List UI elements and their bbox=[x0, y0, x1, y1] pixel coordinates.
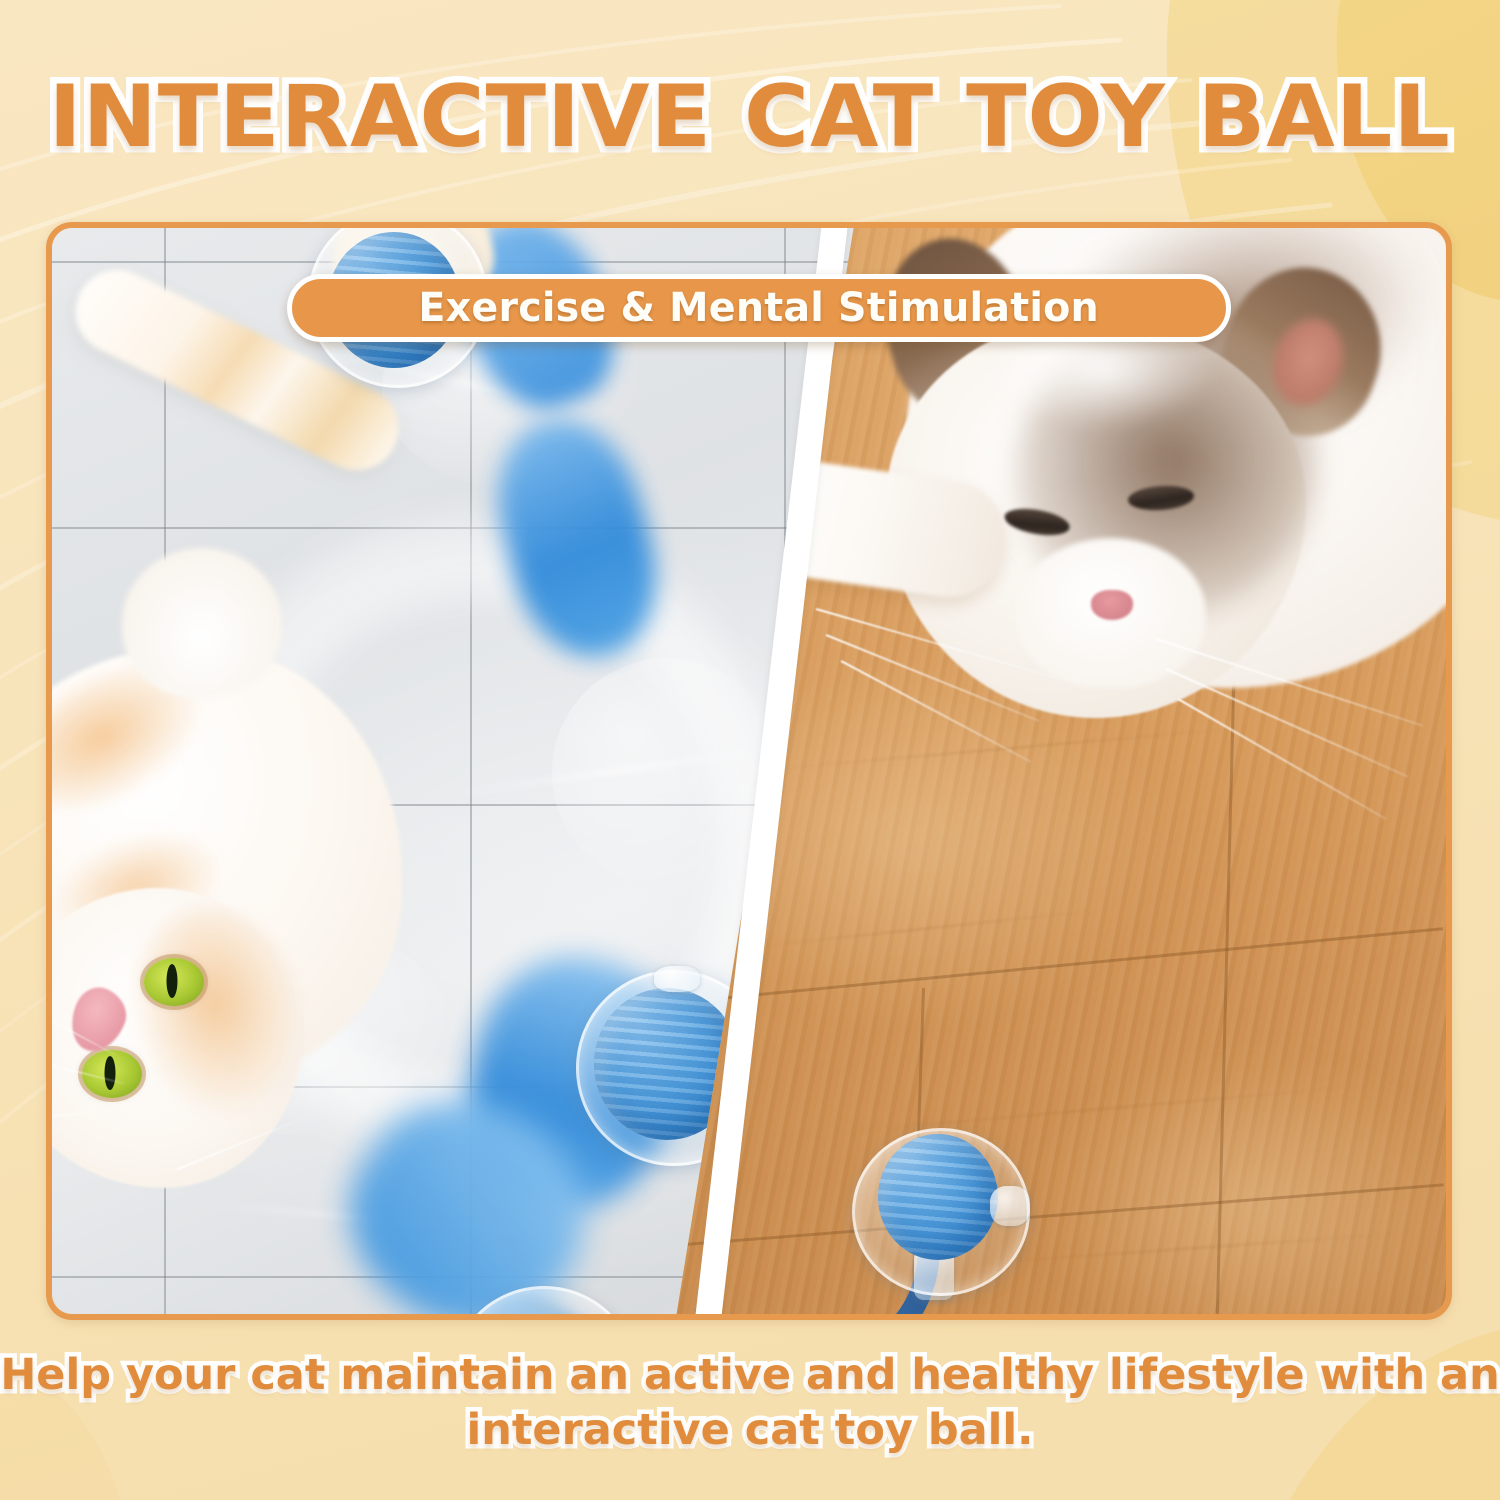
cat-whisker bbox=[1177, 698, 1386, 820]
caption-block: Help your cat maintain an active and hea… bbox=[0, 1348, 1500, 1458]
toy-ball-nub bbox=[990, 1186, 1030, 1226]
wood-sheen bbox=[1032, 1048, 1452, 1320]
cat-ear bbox=[122, 548, 282, 698]
cat-nose bbox=[1091, 590, 1133, 620]
photo-gallery-frame bbox=[46, 222, 1452, 1320]
cat-left bbox=[46, 558, 512, 1178]
caption-line-1: Help your cat maintain an active and hea… bbox=[0, 1348, 1500, 1403]
toy-ball-nub bbox=[654, 966, 700, 992]
cat-eye bbox=[144, 958, 204, 1006]
toy-ball-icon bbox=[450, 1286, 638, 1320]
toy-ball-blue-core bbox=[878, 1134, 998, 1260]
toy-ball-glow bbox=[70, 1310, 328, 1320]
caption-line-2: interactive cat toy ball. bbox=[0, 1403, 1500, 1458]
toy-ball-icon bbox=[852, 1128, 1030, 1296]
feature-badge-label: Exercise & Mental Stimulation bbox=[419, 285, 1099, 331]
title-bar: INTERACTIVE CAT TOY BALL bbox=[0, 62, 1500, 172]
page-title: INTERACTIVE CAT TOY BALL bbox=[49, 74, 1451, 160]
feature-badge: Exercise & Mental Stimulation bbox=[287, 274, 1231, 342]
